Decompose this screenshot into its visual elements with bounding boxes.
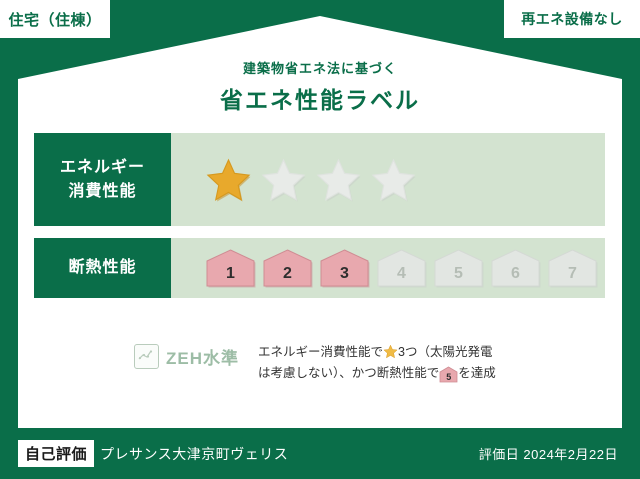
zeh-standard-note: ZEH水準 エネルギー消費性能で 3つ（太陽光発電 は考慮しない）、かつ断熱性能… [34,336,605,383]
energy-label-line-2: 消費性能 [68,180,136,203]
zeh-desc-part-3: を達成 [458,366,496,380]
label-title-block: 建築物省エネ法に基づく 省エネ性能ラベル [0,58,640,115]
energy-performance-label: エネルギー 消費性能 [34,133,171,226]
insulation-level-value: 2 [283,265,292,283]
insulation-level-inactive: 5 [433,248,484,289]
insulation-level-value: 7 [568,265,577,283]
energy-performance-row: エネルギー 消費性能 [34,133,605,226]
inline-house-value: 5 [446,372,451,382]
insulation-level-value: 5 [454,265,463,283]
zeh-trend-icon [134,344,159,369]
star-empty [260,157,307,202]
energy-star-rating [171,133,605,226]
insulation-level-value: 4 [397,265,406,283]
energy-label-root: 住宅（住棟） 再エネ設備なし 建築物省エネ法に基づく 省エネ性能ラベル エネルギ… [0,0,640,479]
footer-bar: 自己評価 プレサンス大津京町ヴェリス 評価日 2024年2月22日 [0,428,640,479]
insulation-level-value: 1 [226,265,235,283]
insulation-level-active: 2 [262,248,313,289]
zeh-desc-part-2: は考慮しない）、かつ断熱性能で [258,366,439,380]
star-empty [315,157,362,202]
insulation-level-value: 6 [511,265,520,283]
insulation-level-inactive: 4 [376,248,427,289]
energy-label-line-1: エネルギー [60,156,145,179]
zeh-mark-label: ZEH水準 [166,344,239,369]
insulation-performance-label: 断熱性能 [34,238,171,298]
insulation-level-inactive: 7 [547,248,598,289]
badge-housing-type: 住宅（住棟） [0,0,110,38]
zeh-description: エネルギー消費性能で 3つ（太陽光発電 は考慮しない）、かつ断熱性能で 5 を達… [258,336,605,383]
insulation-performance-row: 断熱性能 1234567 [34,238,605,298]
building-name: プレサンス大津京町ヴェリス [100,444,288,464]
zeh-mark: ZEH水準 [34,336,258,369]
insulation-level-active: 3 [319,248,370,289]
insulation-level-value: 3 [340,265,349,283]
title-subtitle: 建築物省エネ法に基づく [0,58,640,77]
evaluation-type-badge: 自己評価 [18,440,94,467]
evaluation-date: 評価日 2024年2月22日 [479,444,618,463]
badge-renewable-energy: 再エネ設備なし [504,0,640,38]
inline-insulation-house-icon: 5 [439,366,458,381]
insulation-label-text: 断熱性能 [68,256,136,279]
page-title: 省エネ性能ラベル [0,81,640,115]
badge-housing-type-label: 住宅（住棟） [8,9,101,30]
badge-renewable-energy-label: 再エネ設備なし [521,9,623,29]
star-empty [370,157,417,202]
star-filled [205,157,252,202]
zeh-desc-star-count: 3つ（太陽光発電 [398,345,492,359]
zeh-desc-part-1: エネルギー消費性能で [258,345,383,359]
inline-star-icon [383,344,398,359]
insulation-level-active: 1 [205,248,256,289]
insulation-level-inactive: 6 [490,248,541,289]
insulation-level-scale: 1234567 [171,238,605,298]
